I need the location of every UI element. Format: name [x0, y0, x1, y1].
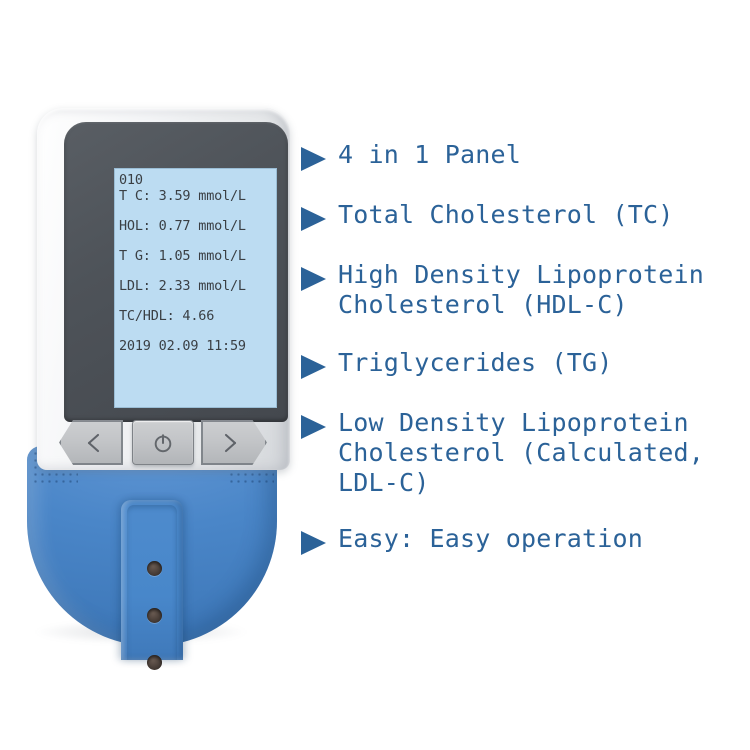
feature-item: Easy: Easy operation [300, 524, 750, 556]
feature-label: Low Density Lipoprotein Cholesterol (Cal… [334, 408, 704, 498]
triangle-right-icon [300, 354, 334, 380]
right-arrow-button[interactable] [201, 420, 267, 465]
chevron-right-icon [201, 420, 267, 465]
lcd-screen: 010 T C: 3.59 mmol/L HOL: 0.77 mmol/L T … [114, 168, 277, 408]
lcd-record-id: 010 [119, 173, 272, 187]
cholesterol-meter-device: 010 T C: 3.59 mmol/L HOL: 0.77 mmol/L T … [24, 108, 280, 648]
triangle-right-icon [300, 266, 334, 292]
feature-label: Easy: Easy operation [334, 524, 643, 554]
feature-item: Low Density Lipoprotein Cholesterol (Cal… [300, 408, 750, 498]
feature-label: Triglycerides (TG) [334, 348, 613, 378]
triangle-right-icon [300, 414, 334, 440]
device-upper-shell: 010 T C: 3.59 mmol/L HOL: 0.77 mmol/L T … [37, 108, 290, 470]
feature-item: 4 in 1 Panel [300, 140, 750, 172]
feature-label: Total Cholesterol (TC) [334, 200, 674, 230]
display-bezel: 010 T C: 3.59 mmol/L HOL: 0.77 mmol/L T … [64, 122, 288, 422]
triangle-right-icon [300, 530, 334, 556]
button-row [37, 420, 293, 474]
lcd-row-hol: HOL: 0.77 mmol/L [119, 219, 272, 233]
strip-port-hole-1 [147, 561, 162, 576]
feature-label: 4 in 1 Panel [334, 140, 521, 170]
lcd-row-timestamp: 2019 02.09 11:59 [119, 339, 272, 353]
left-arrow-button[interactable] [59, 420, 123, 465]
chevron-left-icon [59, 420, 123, 465]
lcd-row-tg: T G: 1.05 mmol/L [119, 249, 272, 263]
test-strip-port[interactable] [121, 500, 183, 660]
strip-port-hole-3 [147, 655, 162, 670]
product-feature-image: 010 T C: 3.59 mmol/L HOL: 0.77 mmol/L T … [0, 0, 750, 750]
triangle-right-icon [300, 206, 334, 232]
feature-item: High Density Lipoprotein Cholesterol (HD… [300, 260, 750, 320]
strip-port-hole-2 [147, 608, 162, 623]
feature-list: 4 in 1 Panel Total Cholesterol (TC) High… [300, 140, 750, 556]
triangle-right-icon [300, 146, 334, 172]
feature-label: High Density Lipoprotein Cholesterol (HD… [334, 260, 704, 320]
lcd-row-tc-hdl: TC/HDL: 4.66 [119, 309, 272, 323]
feature-item: Triglycerides (TG) [300, 348, 750, 380]
lcd-row-ldl: LDL: 2.33 mmol/L [119, 279, 272, 293]
power-icon [133, 421, 193, 464]
feature-item: Total Cholesterol (TC) [300, 200, 750, 232]
power-button[interactable] [132, 420, 194, 465]
lcd-row-tc: T C: 3.59 mmol/L [119, 189, 272, 203]
